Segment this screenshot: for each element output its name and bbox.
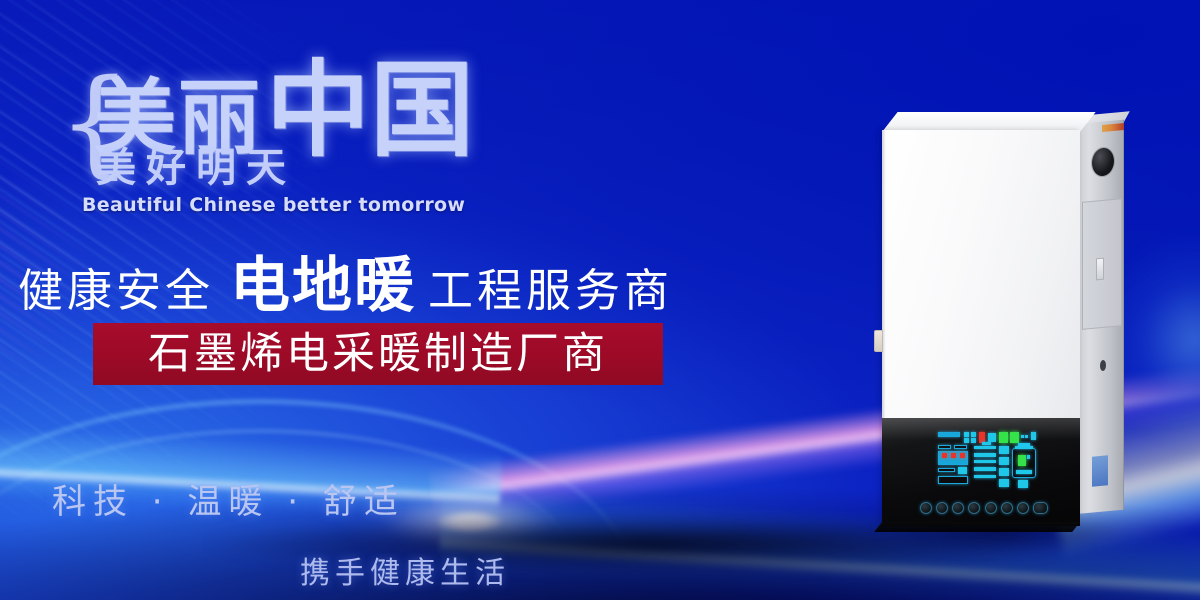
tagline-primary: 科技 · 温暖 · 舒适 bbox=[52, 474, 405, 523]
red-banner-text: 石墨烯电采暖制造厂商 bbox=[148, 333, 608, 376]
headline-trail: 工程服务商 bbox=[428, 268, 673, 316]
logo-subtitle-cn: 美好明天 bbox=[96, 148, 296, 188]
logo-title-part2: 中国 bbox=[266, 49, 474, 171]
product-image-electric-boiler bbox=[860, 108, 1180, 528]
boiler-side-slot bbox=[1092, 455, 1108, 486]
touch-button-row[interactable] bbox=[920, 500, 1048, 516]
boiler-left-latch bbox=[874, 330, 883, 352]
red-banner: 石墨烯电采暖制造厂商 bbox=[93, 323, 663, 385]
boiler-top-face bbox=[882, 112, 1096, 132]
tagline-secondary: 携手健康生活 bbox=[300, 548, 510, 592]
boiler-control-panel[interactable] bbox=[882, 418, 1080, 526]
promotional-banner: { 美丽中国 美好明天 Beautiful Chinese better tom… bbox=[0, 0, 1200, 600]
boiler-side-knob bbox=[1096, 258, 1104, 281]
headline-lead: 健康安全 bbox=[18, 268, 214, 316]
lcd-display bbox=[938, 432, 1036, 494]
headline: 健康安全 电地暖 工程服务商 bbox=[18, 256, 673, 316]
power-button[interactable] bbox=[920, 502, 932, 514]
mode-button[interactable] bbox=[936, 502, 948, 514]
clock-button[interactable] bbox=[985, 502, 997, 514]
water-button[interactable] bbox=[968, 502, 980, 514]
plus-button[interactable] bbox=[1017, 502, 1029, 514]
logo-subtitle-en: Beautiful Chinese better tomorrow bbox=[82, 194, 465, 216]
boiler-bottom-face bbox=[874, 522, 1080, 532]
heating-button[interactable] bbox=[952, 502, 964, 514]
confirm-button[interactable] bbox=[1033, 502, 1048, 514]
minus-button[interactable] bbox=[1001, 502, 1013, 514]
brand-logo: { 美丽中国 美好明天 Beautiful Chinese better tom… bbox=[58, 52, 488, 222]
headline-emphasis: 电地暖 bbox=[230, 256, 416, 316]
